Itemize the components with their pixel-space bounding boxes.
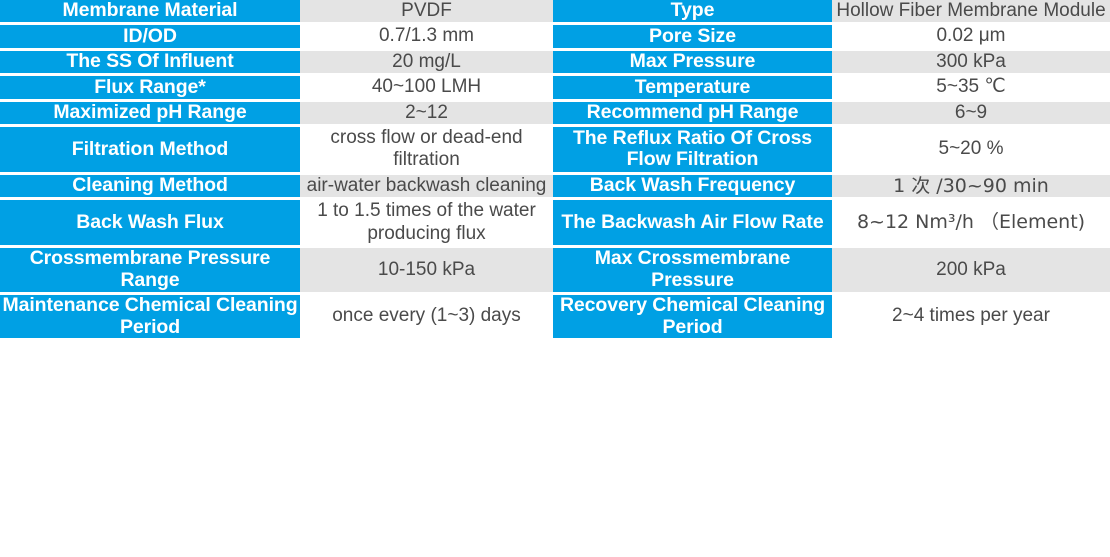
row-value-left: 1 to 1.5 times of the water producing fl…: [300, 200, 553, 248]
row-label-right: Recovery Chemical Cleaning Period: [553, 295, 832, 339]
table-row: The SS Of Influent 20 mg/L Max Pressure …: [0, 51, 1110, 76]
row-value-left: 2~12: [300, 102, 553, 127]
row-value-right: 5~20 %: [832, 127, 1110, 175]
row-label-left: Maximized pH Range: [0, 102, 300, 127]
row-label-right: The Reflux Ratio Of Cross Flow Filtratio…: [553, 127, 832, 175]
row-value-left: 40~100 LMH: [300, 76, 553, 101]
row-label-left: Crossmembrane Pressure Range: [0, 248, 300, 295]
row-label-left: The SS Of Influent: [0, 51, 300, 76]
row-label-right: Max Pressure: [553, 51, 832, 76]
row-label-right: The Backwash Air Flow Rate: [553, 200, 832, 248]
row-value-right: 6~9: [832, 102, 1110, 127]
row-value-right: Hollow Fiber Membrane Module: [832, 0, 1110, 25]
row-label-right: Back Wash Frequency: [553, 175, 832, 200]
row-value-right: 300 kPa: [832, 51, 1110, 76]
table-row: Filtration Method cross flow or dead-end…: [0, 127, 1110, 175]
row-value-right: 2~4 times per year: [832, 295, 1110, 339]
table-row: Cleaning Method air-water backwash clean…: [0, 175, 1110, 200]
row-label-right: Type: [553, 0, 832, 25]
row-value-right: 1 次 /30~90 min: [832, 175, 1110, 200]
row-value-left: once every (1~3) days: [300, 295, 553, 339]
row-label-left: Filtration Method: [0, 127, 300, 175]
row-value-right: 200 kPa: [832, 248, 1110, 295]
row-label-left: Cleaning Method: [0, 175, 300, 200]
row-label-right: Pore Size: [553, 25, 832, 50]
row-label-right: Temperature: [553, 76, 832, 101]
row-value-left: 10-150 kPa: [300, 248, 553, 295]
row-label-right: Recommend pH Range: [553, 102, 832, 127]
table-row: Maximized pH Range 2~12 Recommend pH Ran…: [0, 102, 1110, 127]
table-row: Flux Range* 40~100 LMH Temperature 5~35 …: [0, 76, 1110, 101]
row-value-right: 5~35 ℃: [832, 76, 1110, 101]
specification-table-body: Membrane Material PVDF Type Hollow Fiber…: [0, 0, 1110, 338]
table-row: Maintenance Chemical Cleaning Period onc…: [0, 295, 1110, 339]
row-label-left: Flux Range*: [0, 76, 300, 101]
table-row: Crossmembrane Pressure Range 10-150 kPa …: [0, 248, 1110, 295]
table-row: Back Wash Flux 1 to 1.5 times of the wat…: [0, 200, 1110, 248]
row-value-right: 0.02 μm: [832, 25, 1110, 50]
row-label-left: Back Wash Flux: [0, 200, 300, 248]
table-row: Membrane Material PVDF Type Hollow Fiber…: [0, 0, 1110, 25]
table-row: ID/OD 0.7/1.3 mm Pore Size 0.02 μm: [0, 25, 1110, 50]
row-value-left: air-water backwash cleaning: [300, 175, 553, 200]
row-label-left: Membrane Material: [0, 0, 300, 25]
row-label-left: Maintenance Chemical Cleaning Period: [0, 295, 300, 339]
row-label-left: ID/OD: [0, 25, 300, 50]
row-label-right: Max Crossmembrane Pressure: [553, 248, 832, 295]
row-value-left: 20 mg/L: [300, 51, 553, 76]
row-value-left: 0.7/1.3 mm: [300, 25, 553, 50]
row-value-left: PVDF: [300, 0, 553, 25]
row-value-left: cross flow or dead-end filtration: [300, 127, 553, 175]
specification-table: Membrane Material PVDF Type Hollow Fiber…: [0, 0, 1110, 338]
row-value-right: 8~12 Nm³/h （Element): [832, 200, 1110, 248]
